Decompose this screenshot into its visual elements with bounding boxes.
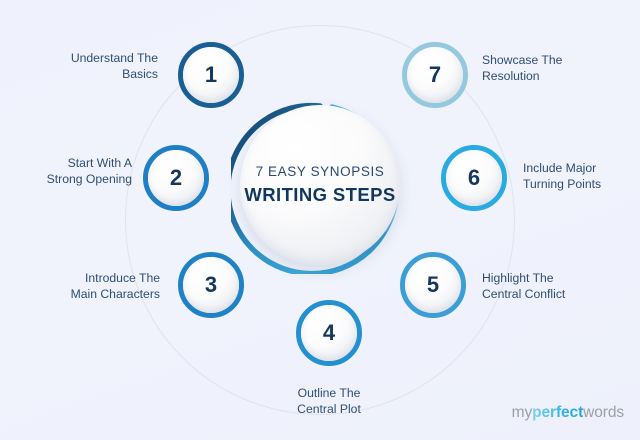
step-node-2[interactable]: 2	[143, 145, 209, 211]
step-label-1: Understand The Basics	[30, 50, 158, 82]
hub-disc: 7 EASY SYNOPSIS WRITING STEPS	[240, 105, 400, 265]
step-disc-5: 5	[405, 257, 461, 313]
step-node-5[interactable]: 5	[400, 252, 466, 318]
hub-title-line2: WRITING STEPS	[244, 184, 395, 206]
step-disc-2: 2	[148, 150, 204, 206]
step-disc-3: 3	[183, 257, 239, 313]
step-label-6: Include Major Turning Points	[523, 160, 639, 192]
logo-part-words: words	[583, 404, 624, 421]
brand-logo: myperfectwords	[512, 404, 624, 422]
step-disc-4: 4	[301, 305, 357, 361]
center-hub: 7 EASY SYNOPSIS WRITING STEPS	[240, 105, 400, 265]
step-disc-7: 7	[407, 47, 463, 103]
step-label-2: Start With A Strong Opening	[10, 155, 132, 187]
logo-part-my: my	[512, 404, 532, 421]
step-node-7[interactable]: 7	[402, 42, 468, 108]
step-node-3[interactable]: 3	[178, 252, 244, 318]
step-label-3: Introduce The Main Characters	[26, 270, 160, 302]
step-number-5: 5	[427, 274, 439, 296]
step-label-4: Outline The Central Plot	[259, 385, 399, 417]
step-disc-1: 1	[183, 47, 239, 103]
step-number-2: 2	[170, 167, 182, 189]
step-number-3: 3	[205, 274, 217, 296]
hub-title-line1: 7 EASY SYNOPSIS	[256, 164, 385, 179]
step-node-1[interactable]: 1	[178, 42, 244, 108]
step-number-1: 1	[205, 64, 217, 86]
step-disc-6: 6	[446, 150, 502, 206]
step-number-7: 7	[429, 64, 441, 86]
step-node-6[interactable]: 6	[441, 145, 507, 211]
step-node-4[interactable]: 4	[296, 300, 362, 366]
step-label-7: Showcase The Resolution	[482, 52, 622, 84]
step-number-6: 6	[468, 167, 480, 189]
infographic-canvas: 7 EASY SYNOPSIS WRITING STEPS 1 Understa…	[0, 0, 640, 440]
step-label-5: Highlight The Central Conflict	[482, 270, 622, 302]
step-number-4: 4	[323, 322, 335, 344]
logo-part-perfect: perfect	[532, 404, 583, 421]
